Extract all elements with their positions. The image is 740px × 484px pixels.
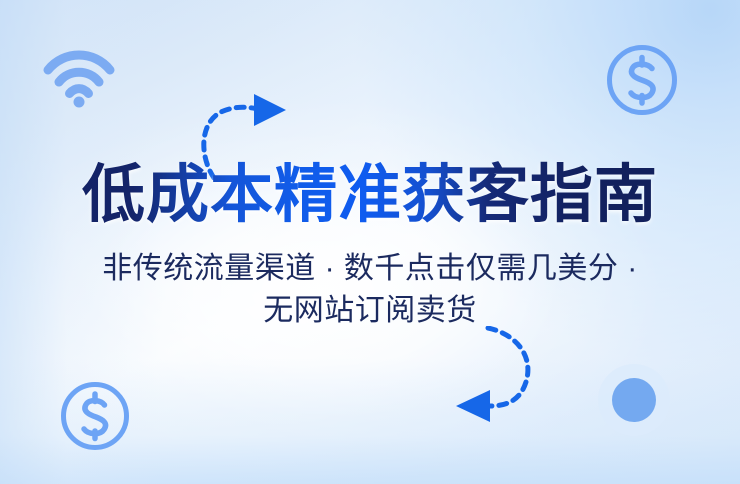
- subtitle-line-2: 无网站订阅卖货: [0, 290, 740, 332]
- dollar-circle-icon: [604, 42, 680, 118]
- subtitle-line-1: 非传统流量渠道 · 数千点击仅需几美分 ·: [0, 248, 740, 290]
- blue-dot-icon: [592, 358, 676, 442]
- poster-text-block: 低成本精准获客指南 非传统流量渠道 · 数千点击仅需几美分 · 无网站订阅卖货: [0, 156, 740, 332]
- page-title: 低成本精准获客指南: [0, 156, 740, 234]
- poster-canvas: 低成本精准获客指南 非传统流量渠道 · 数千点击仅需几美分 · 无网站订阅卖货: [0, 0, 740, 484]
- dashed-arrow-left-icon: [442, 326, 554, 430]
- page-subtitle: 非传统流量渠道 · 数千点击仅需几美分 · 无网站订阅卖货: [0, 248, 740, 332]
- wifi-icon: [42, 44, 116, 108]
- dollar-circle-icon: [58, 379, 132, 453]
